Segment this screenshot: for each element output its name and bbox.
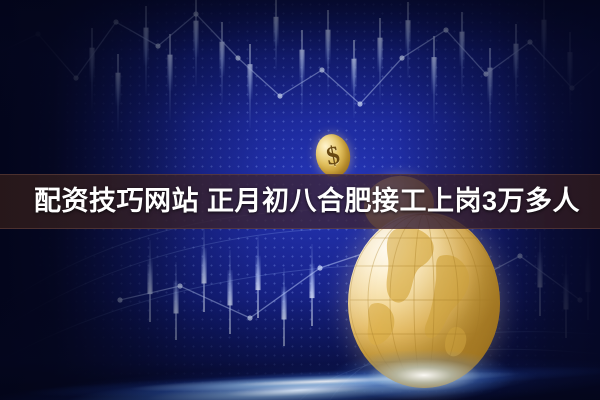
title-band: 配资技巧网站 正月初八合肥接工上岗3万多人: [0, 174, 600, 229]
banner-image: $ 配资技巧网站 正月初八合肥接工上岗3万多人: [0, 0, 600, 400]
globe-base-glow: [330, 332, 518, 400]
dollar-sign-icon: $: [324, 141, 342, 169]
golden-globe: [348, 212, 500, 400]
page-title: 配资技巧网站 正月初八合肥接工上岗3万多人: [0, 188, 598, 215]
